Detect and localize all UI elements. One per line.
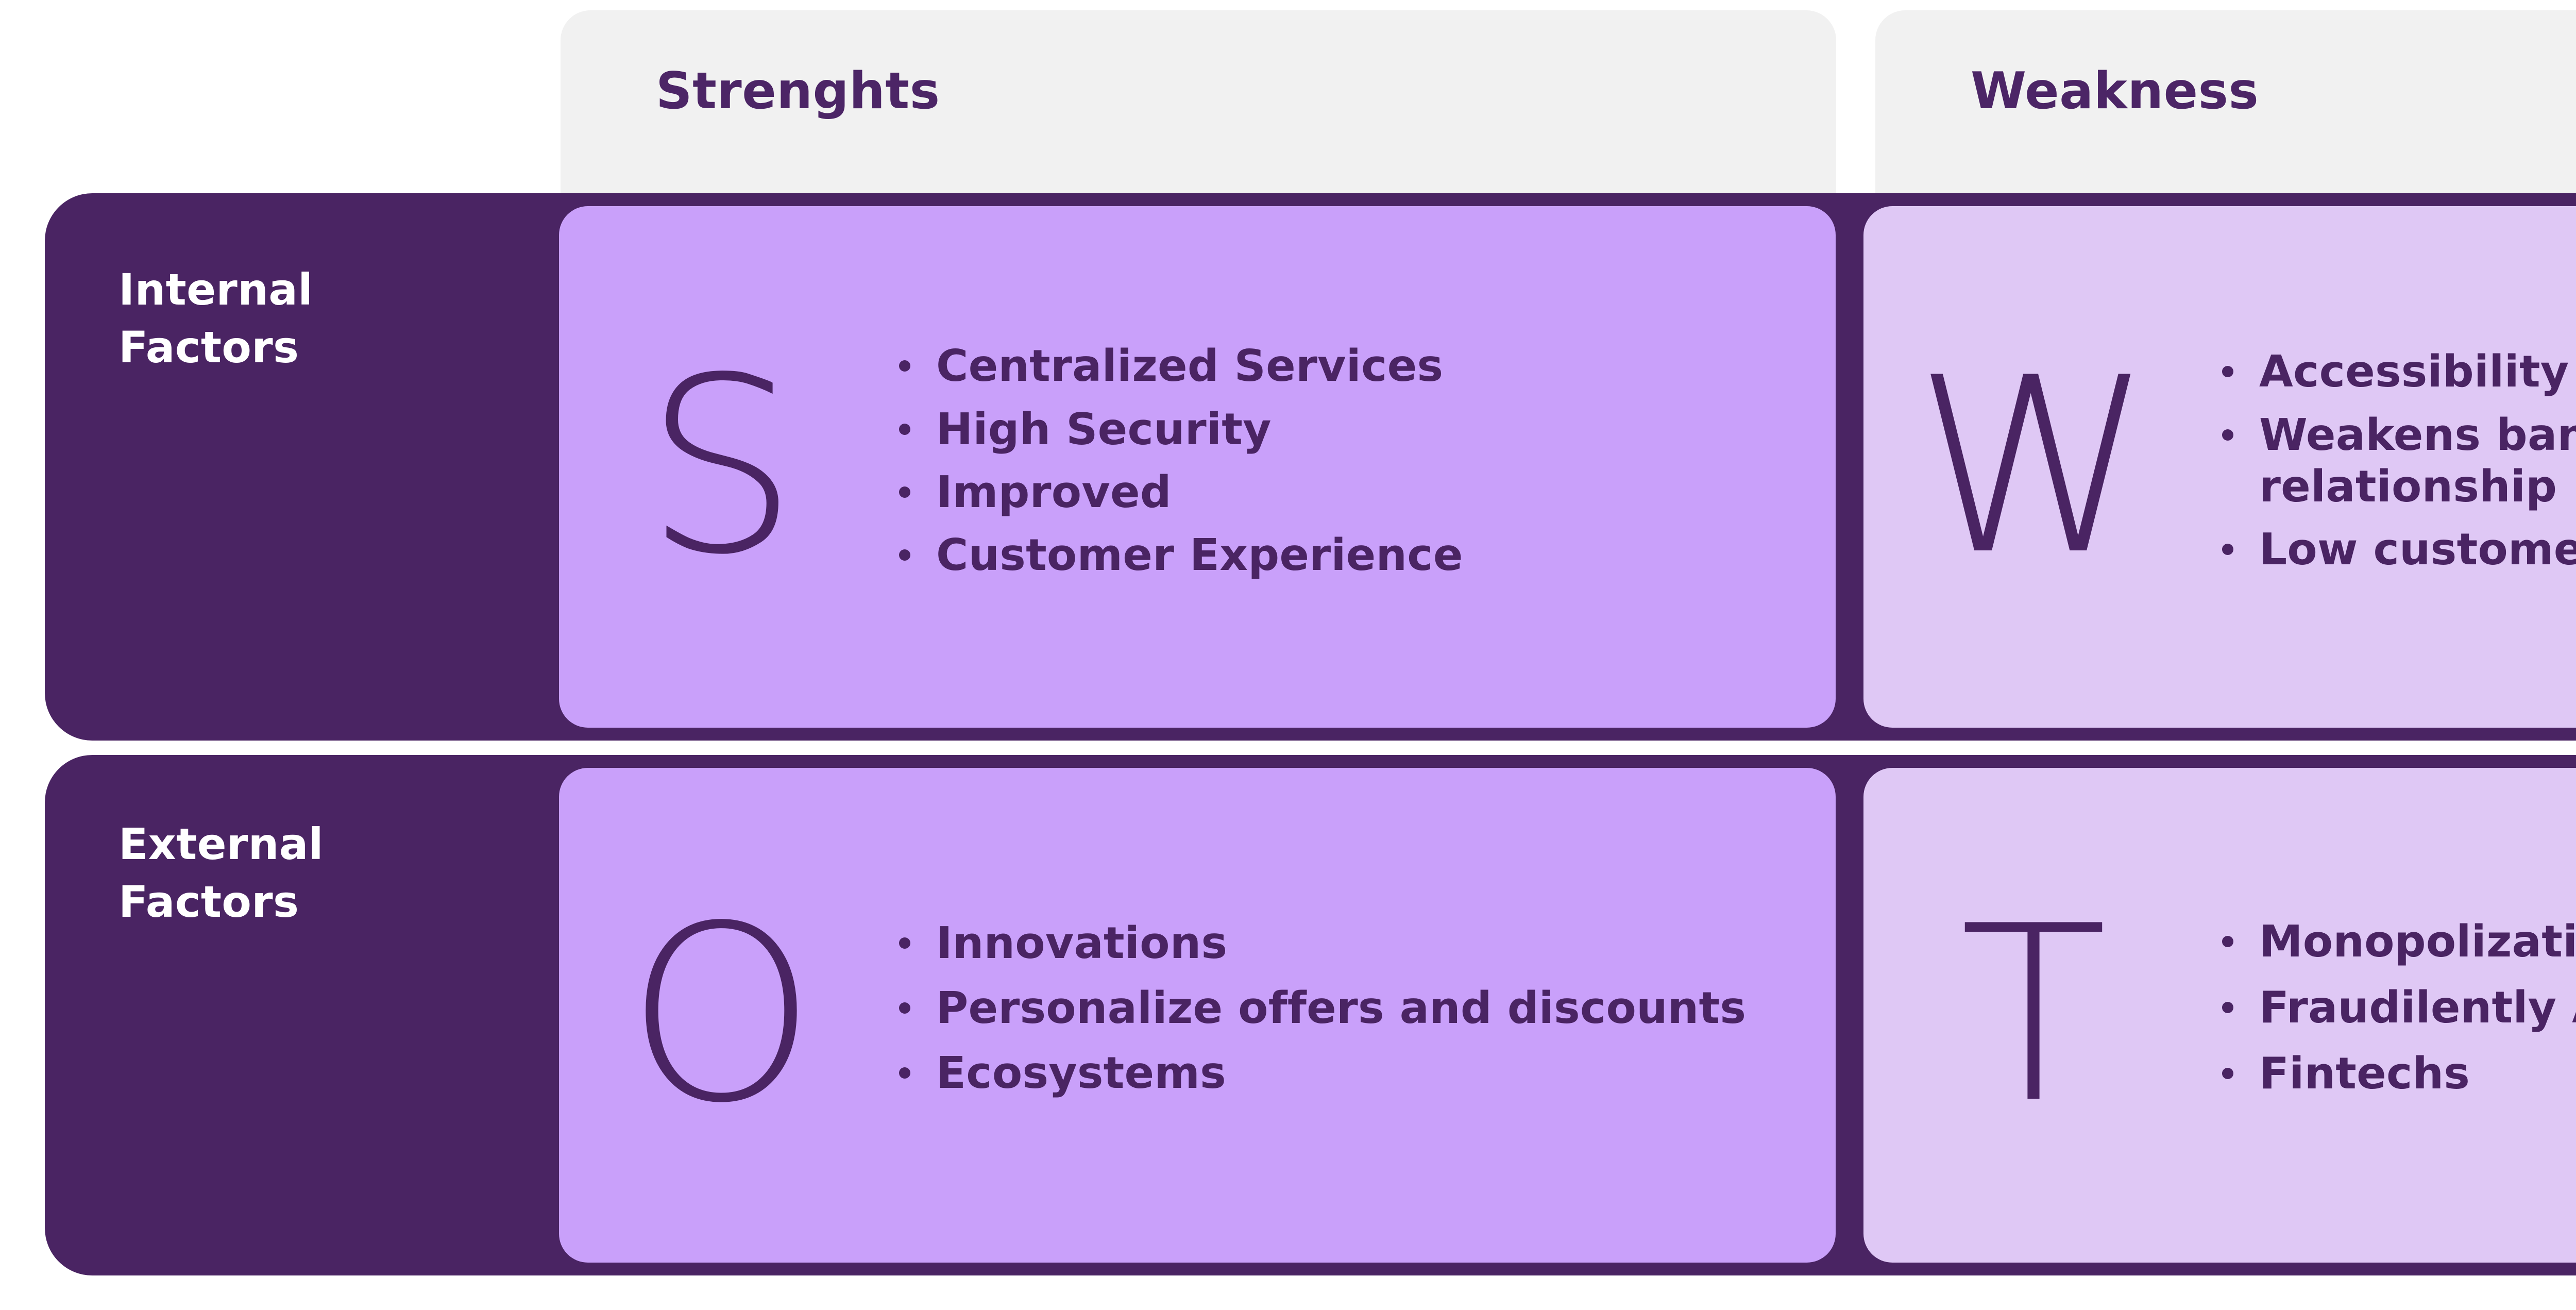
list-item: Ecosystems	[889, 1048, 1815, 1099]
swot-letter-s: S	[569, 346, 873, 588]
list-item: High Security	[889, 404, 1815, 456]
swot-row-internal: Internal Factors S Centralized Services …	[45, 193, 2576, 741]
list-item: Low customer credibility	[2212, 524, 2576, 576]
list-item: Innovations	[889, 918, 1815, 969]
weakness-bullet-list: Accessibility Weakens bank-customer rela…	[2193, 346, 2576, 587]
swot-letter-w: W	[1874, 346, 2193, 588]
column-header-weakness-label: Weakness	[1971, 66, 2259, 116]
list-item: Personalize offers and discounts	[889, 983, 1815, 1034]
swot-card-opportunities[interactable]: O Innovations Personalize offers and dis…	[559, 768, 1836, 1263]
swot-diagram: Strenghts Weakness Internal Factors S Ce…	[0, 0, 2576, 1310]
swot-card-strengths[interactable]: S Centralized Services High Security Imp…	[559, 206, 1836, 728]
list-item: Monopolization	[2212, 916, 2576, 968]
list-item: Accessibility	[2212, 346, 2576, 398]
swot-card-weakness[interactable]: W Accessibility Weakens bank-customer re…	[1863, 206, 2576, 728]
swot-card-threats[interactable]: T Monopolization Fraudilently Activity F…	[1863, 768, 2576, 1263]
list-item: Weakens bank-customer relationship	[2212, 410, 2576, 513]
column-header-strengths: Strenghts	[561, 10, 1836, 196]
swot-row-external: External Factors O Innovations Personali…	[45, 755, 2576, 1275]
opportunities-bullet-list: Innovations Personalize offers and disco…	[873, 918, 1836, 1113]
list-item: Customer Experience	[889, 530, 1815, 581]
row-label-external-line1: External	[118, 816, 479, 874]
threats-bullet-list: Monopolization Fraudilently Activity Fin…	[2193, 916, 2576, 1115]
row-label-internal-line2: Factors	[118, 319, 479, 377]
row-label-external-line2: Factors	[118, 874, 479, 931]
column-header-strengths-label: Strenghts	[656, 66, 940, 116]
row-label-external: External Factors	[118, 816, 479, 931]
strengths-bullet-list: Centralized Services High Security Impro…	[873, 341, 1836, 593]
row-label-internal-line1: Internal	[118, 261, 479, 319]
list-item: Improved	[889, 467, 1815, 518]
list-item: Fraudilently Activity	[2212, 982, 2576, 1034]
row-label-internal: Internal Factors	[118, 261, 479, 376]
list-item: Fintechs	[2212, 1048, 2576, 1100]
swot-letter-t: T	[1874, 894, 2193, 1136]
list-item: Centralized Services	[889, 341, 1815, 392]
column-header-weakness: Weakness	[1875, 10, 2576, 196]
swot-letter-o: O	[569, 894, 873, 1136]
